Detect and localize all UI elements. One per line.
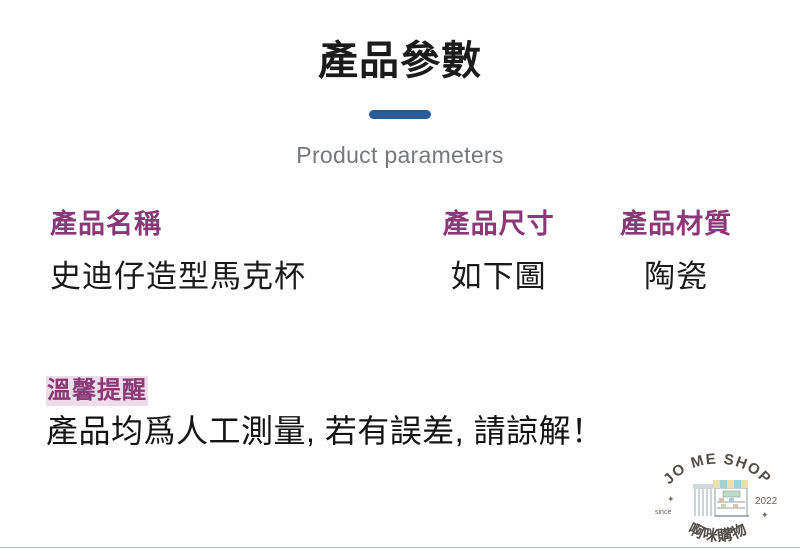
shop-logo-watermark: JO ME SHOP xyxy=(645,452,790,542)
logo-chinese-text: 啊咪購物 xyxy=(686,519,751,542)
value-product-name: 史迪仔造型馬克杯 xyxy=(40,258,405,295)
column-header-product-material: 產品材質 xyxy=(592,208,760,240)
reminder-label: 溫馨提醒 xyxy=(46,376,148,406)
page-subtitle: Product parameters xyxy=(0,142,800,169)
product-parameters-page: 產品參數 Product parameters 產品名稱 產品尺寸 產品材質 史… xyxy=(0,0,800,548)
value-product-size: 如下圖 xyxy=(405,258,592,295)
column-header-product-size: 產品尺寸 xyxy=(405,208,592,240)
reminder-block: 溫馨提醒 產品均爲人工測量, 若有誤差, 請諒解！ xyxy=(46,376,766,450)
value-product-material: 陶瓷 xyxy=(592,258,760,295)
table-header-row: 產品名稱 產品尺寸 產品材質 xyxy=(40,208,760,240)
title-divider-wrapper xyxy=(0,106,800,124)
reminder-text: 產品均爲人工測量, 若有誤差, 請諒解！ xyxy=(46,412,766,450)
logo-since-text: since xyxy=(655,509,671,516)
table-row: 史迪仔造型馬克杯 如下圖 陶瓷 xyxy=(40,258,760,295)
storefront-icon xyxy=(693,480,749,516)
sparkle-icon-right: ✦ xyxy=(761,510,769,520)
parameters-table: 產品名稱 產品尺寸 產品材質 史迪仔造型馬克杯 如下圖 陶瓷 xyxy=(40,208,760,296)
title-divider xyxy=(369,110,431,119)
page-title: 產品參數 xyxy=(0,38,800,84)
logo-year-text: 2022 xyxy=(755,496,778,507)
column-header-product-name: 產品名稱 xyxy=(40,208,405,240)
sparkle-icon-left: ✦ xyxy=(667,494,675,504)
